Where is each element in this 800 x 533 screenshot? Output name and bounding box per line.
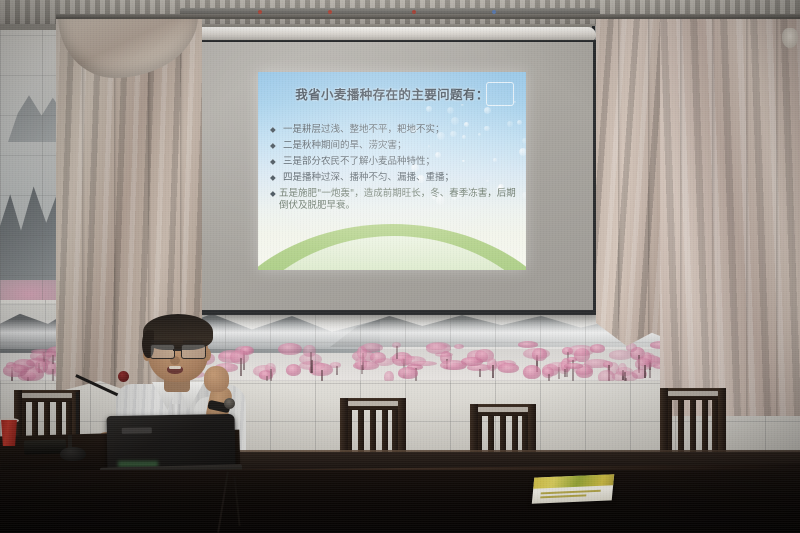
slide-bullet-text: 五是施肥"一炮轰"，造成前期旺长，冬、春季冻害，后期倒伏及脱肥早衰。 [279, 188, 520, 212]
slide-bullet-item: ◆ 四是播种过深、播种不匀、漏播、重播； [270, 172, 520, 184]
slide-bubble-icon [522, 192, 526, 198]
slide-bullet-item: ◆ 一是耕层过浅、整地不平，耙地不实； [270, 124, 520, 136]
slide-bubble-icon [484, 107, 491, 114]
brochure-cover-art [533, 474, 614, 489]
computer-mouse[interactable] [60, 447, 86, 461]
slide-bullet-text: 一是耕层过浅、整地不平，耙地不实； [283, 124, 520, 136]
red-paper-cup[interactable] [0, 420, 18, 446]
slide-bullet-list: ◆ 一是耕层过浅、整地不平，耙地不实； ◆ 二是秋种期间的旱、涝灾害； ◆ 三是… [270, 124, 520, 216]
diamond-bullet-icon: ◆ [270, 140, 283, 152]
slide-bullet-text: 三是部分农民不了解小麦品种特性； [283, 156, 520, 168]
slide-bullet-item: ◆ 二是秋种期间的旱、涝灾害； [270, 140, 520, 152]
chair-back-slat [690, 400, 696, 454]
presentation-photograph: 江南园林风景 我省小麦播种存在的主要问题有： [0, 0, 800, 533]
wall-lamp-icon [782, 28, 798, 48]
slide-bubble-icon [447, 107, 454, 114]
brochure[interactable] [532, 474, 614, 504]
chair-rail-inlay [21, 393, 73, 398]
diamond-bullet-icon: ◆ [270, 188, 279, 200]
chair-back-slat [678, 400, 684, 454]
curtain-rod [56, 14, 800, 19]
curtain-right[interactable] [660, 16, 800, 416]
microphone-stem [76, 392, 79, 436]
presenter-teeth [169, 366, 181, 369]
chair-rail-inlay [477, 407, 529, 412]
diamond-bullet-icon: ◆ [270, 172, 283, 184]
presenter-raised-fist [204, 366, 229, 392]
front-table [0, 470, 800, 533]
chair-top-rail [660, 388, 726, 400]
slide-title: 我省小麦播种存在的主要问题有： [268, 84, 516, 103]
chair-top-rail [340, 398, 406, 410]
chair-top-rail [470, 404, 536, 416]
diamond-bullet-icon: ◆ [270, 124, 283, 136]
diamond-bullet-icon: ◆ [270, 156, 283, 168]
eyeglasses-icon [148, 344, 208, 357]
slide-bubble-icon [519, 148, 526, 156]
laptop-logo-icon [122, 427, 152, 434]
chair-back-slat [702, 400, 708, 454]
slide-bubble-icon [522, 138, 526, 144]
slide-bubble-icon [426, 106, 431, 111]
slide-bullet-text: 二是秋种期间的旱、涝灾害； [283, 140, 520, 152]
chair-top-rail [14, 390, 80, 402]
chair-rail-inlay [667, 391, 719, 396]
slide-bubble-icon [461, 104, 463, 106]
chair-rail-inlay [347, 401, 399, 406]
microphone-icon[interactable] [118, 371, 129, 382]
projected-slide: 我省小麦播种存在的主要问题有： ◆ 一是耕层过浅、整地不平，耙地不实； ◆ 二是… [258, 72, 526, 270]
slide-bullet-item: ◆ 五是施肥"一炮轰"，造成前期旺长，冬、春季冻害，后期倒伏及脱肥早衰。 [270, 188, 520, 212]
slide-bullet-item: ◆ 三是部分农民不了解小麦品种特性； [270, 156, 520, 168]
slide-bullet-text: 四是播种过深、播种不匀、漏播、重播； [283, 172, 520, 184]
